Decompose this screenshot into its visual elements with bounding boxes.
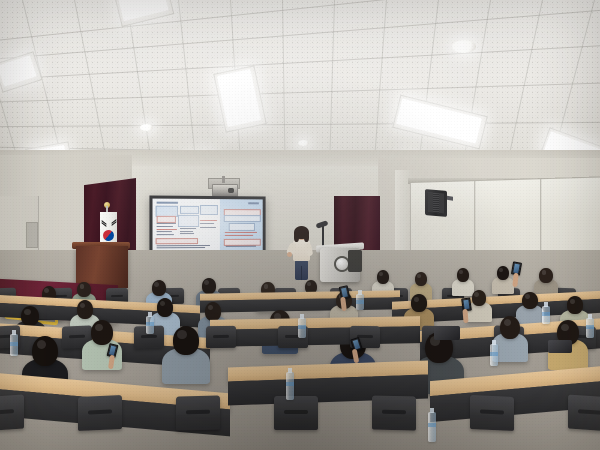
bottle-label: [146, 322, 154, 326]
projector-lens: [228, 188, 234, 193]
chair-handle-slot: [0, 409, 14, 415]
person-head: [205, 302, 222, 321]
bottle-label: [428, 423, 436, 427]
slide-left-panel: [153, 199, 220, 253]
person-hair-highlight: [95, 324, 103, 332]
bottle-label: [10, 342, 18, 346]
bottle-cap: [300, 314, 304, 319]
downlight-2: [140, 124, 153, 131]
phone-screen: [341, 288, 348, 298]
water-bottle-2: [286, 372, 294, 400]
loudspeaker-icon: [425, 189, 447, 217]
chair-handle-slot: [111, 295, 123, 297]
person-head: [32, 336, 58, 366]
chair: [176, 395, 220, 430]
water-bottle-6: [542, 306, 550, 324]
projector-arm: [222, 176, 225, 183]
water-bottle-7: [356, 294, 364, 310]
person-head: [567, 296, 584, 314]
person-head: [157, 298, 174, 317]
presenter-hair-left: [294, 232, 299, 242]
presenter-hair-right: [304, 232, 309, 242]
speaker-grille: [428, 192, 444, 213]
downlight-1: [452, 40, 476, 53]
chair-handle-slot: [186, 410, 211, 415]
handbag-2: [548, 340, 572, 353]
water-bottle-3: [298, 318, 306, 338]
projector-icon: [212, 184, 238, 197]
water-bottle-1: [10, 334, 18, 356]
chair-handle-slot: [213, 335, 230, 338]
projection-screen: [149, 195, 265, 256]
chair: [372, 396, 416, 431]
water-bottle-5: [490, 344, 498, 366]
water-bottle-4: [428, 412, 436, 442]
chair-handle-slot: [578, 409, 600, 415]
raised-arm: [462, 309, 468, 323]
chair: [206, 326, 236, 348]
bottle-label: [298, 325, 306, 329]
lecture-hall-photo: [0, 0, 600, 450]
presenter-legs: [295, 260, 308, 280]
person-head: [411, 294, 428, 312]
bottle-label: [356, 300, 364, 304]
bottle-cap: [12, 330, 16, 335]
presenter-hand: [287, 252, 292, 257]
bottle-cap: [288, 368, 292, 373]
phone-screen: [109, 346, 116, 356]
slide-right-panel: [219, 199, 262, 252]
chair-handle-slot: [284, 410, 309, 414]
bottle-label: [586, 325, 594, 329]
phone-screen: [463, 300, 469, 310]
person-hair-highlight: [177, 330, 186, 339]
bottle-label: [542, 312, 550, 316]
chair: [78, 395, 122, 431]
chair-handle-slot: [141, 335, 158, 338]
water-bottle-8: [146, 316, 154, 334]
presenter: [288, 228, 314, 280]
chair-handle-slot: [382, 410, 407, 415]
chair: [470, 395, 514, 431]
bottle-cap: [148, 312, 152, 317]
bottle-cap: [358, 290, 362, 295]
person-head: [77, 300, 94, 319]
downlight-3: [298, 140, 309, 146]
bottle-cap: [588, 314, 592, 319]
bottle-cap: [492, 340, 496, 345]
bottle-label: [286, 382, 294, 386]
person-hair-highlight: [504, 319, 511, 326]
person-hair-highlight: [24, 309, 30, 315]
chair-handle-slot: [88, 410, 113, 415]
person-head: [91, 320, 113, 345]
person-hair-highlight: [37, 340, 46, 349]
bottle-cap: [430, 408, 434, 413]
attendee-front-left-3: [162, 326, 210, 384]
chair: [0, 394, 24, 431]
bottle-label: [490, 352, 498, 356]
taeguk-symbol: [101, 228, 115, 242]
person-head: [173, 326, 200, 355]
phone-screen: [513, 264, 519, 274]
person-hair-highlight: [542, 270, 547, 275]
water-bottle-9: [586, 318, 594, 338]
console-rack: [348, 250, 362, 272]
handbag-1: [434, 326, 460, 340]
wall-notice-plate: [26, 222, 38, 248]
projection-screen-surface: [153, 199, 263, 253]
person-hair-highlight: [80, 284, 85, 289]
chair-handle-slot: [480, 410, 505, 415]
chair: [274, 396, 318, 430]
person-hair-highlight: [264, 284, 269, 289]
bottle-cap: [544, 302, 548, 307]
chair: [568, 395, 600, 432]
person-hair-highlight: [561, 324, 569, 332]
